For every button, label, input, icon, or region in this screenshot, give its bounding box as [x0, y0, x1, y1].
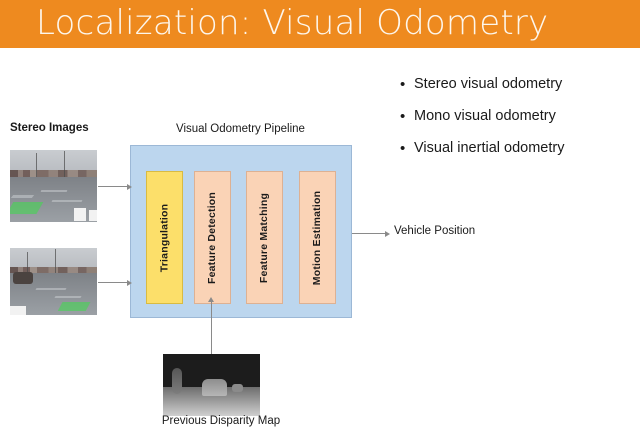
list-item: • Stereo visual odometry [400, 74, 638, 95]
bullet-point-icon: • [400, 138, 414, 159]
bullet-point-icon: • [400, 74, 414, 95]
lane-marking [55, 296, 82, 298]
pipeline-stage-label: Feature Matching [259, 192, 271, 282]
stereo-image-left [10, 150, 97, 222]
white-patch [74, 208, 86, 221]
list-item: • Mono visual odometry [400, 106, 638, 127]
connector-left-top [98, 186, 129, 187]
pole-icon [64, 151, 65, 177]
pipeline-stage-motion-estimation[interactable]: Motion Estimation [299, 171, 336, 304]
connector-output [352, 233, 387, 234]
disparity-vehicle-blob [202, 379, 227, 396]
list-item-label: Mono visual odometry [414, 106, 556, 127]
stereo-images-label: Stereo Images [10, 122, 89, 134]
bullet-list: • Stereo visual odometry • Mono visual o… [400, 74, 638, 170]
lane-marking [41, 190, 68, 192]
pipeline-stage-feature-detection[interactable]: Feature Detection [194, 171, 231, 304]
lane-marking [11, 195, 34, 198]
disparity-object-blob [232, 384, 244, 393]
list-item: • Visual inertial odometry [400, 138, 638, 159]
pipeline-title: Visual Odometry Pipeline [176, 123, 305, 135]
arrow-head-up-icon [208, 297, 214, 302]
visual-odometry-pipeline-container: Triangulation Feature Detection Feature … [130, 145, 352, 318]
pipeline-stage-label: Triangulation [159, 203, 171, 272]
vehicle-shape [13, 272, 32, 284]
disparity-map-image [163, 354, 260, 416]
page-title: Localization: Visual Odometry [36, 1, 548, 45]
pipeline-stage-label: Feature Detection [207, 191, 219, 283]
arrow-head-right-icon [127, 280, 132, 286]
white-patch [89, 210, 97, 221]
output-label: Vehicle Position [394, 225, 475, 237]
disparity-map-caption: Previous Disparity Map [156, 415, 286, 427]
stereo-image-right [10, 248, 97, 315]
connector-left-bottom [98, 282, 129, 283]
arrow-head-right-icon [385, 231, 390, 237]
white-patch [10, 306, 26, 315]
disparity-pole-blob [172, 368, 183, 394]
pipeline-stage-triangulation[interactable]: Triangulation [146, 171, 183, 304]
lane-marking [36, 288, 67, 290]
green-overlay [58, 302, 91, 311]
pole-icon [27, 252, 28, 272]
pole-icon [36, 153, 37, 177]
list-item-label: Visual inertial odometry [414, 138, 564, 159]
pipeline-stage-label: Motion Estimation [312, 190, 324, 284]
arrow-head-right-icon [127, 184, 132, 190]
pole-icon [55, 249, 56, 273]
connector-disparity-feedback [211, 300, 212, 354]
pipeline-stage-feature-matching[interactable]: Feature Matching [246, 171, 283, 304]
list-item-label: Stereo visual odometry [414, 74, 562, 95]
bullet-point-icon: • [400, 106, 414, 127]
